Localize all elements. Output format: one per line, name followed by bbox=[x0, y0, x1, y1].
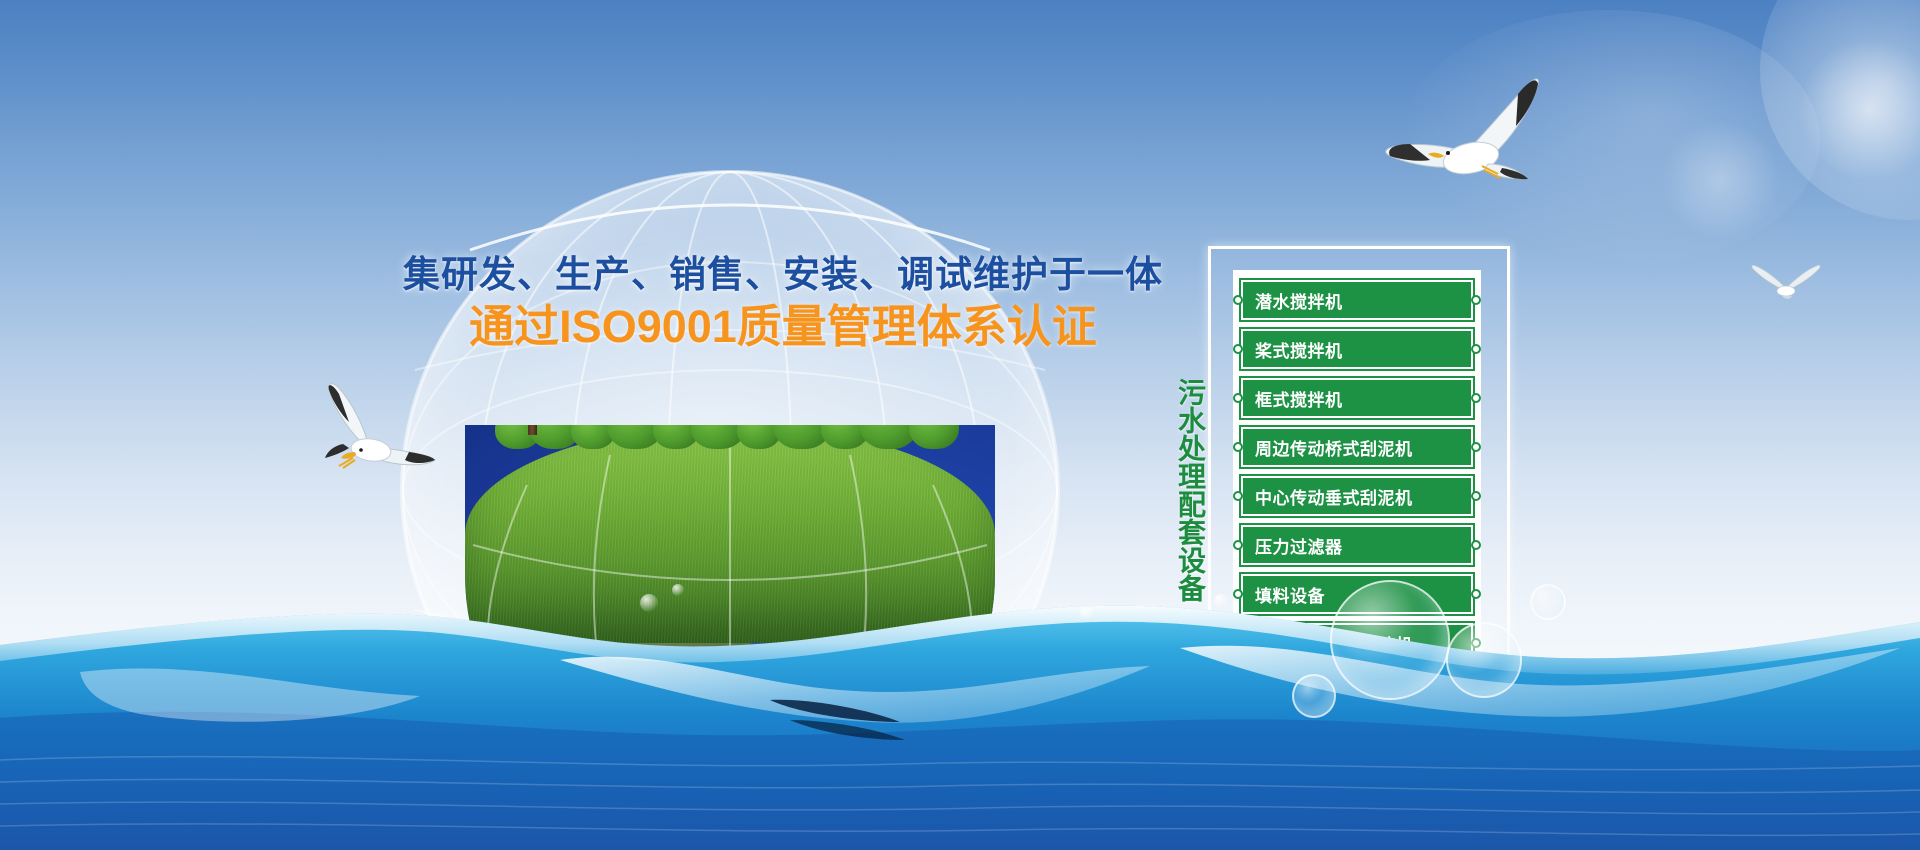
eyelet-left-icon bbox=[1233, 344, 1243, 354]
eyelet-right-icon bbox=[1471, 491, 1481, 501]
large-tree-trunk bbox=[528, 425, 537, 435]
water-bubble-small bbox=[1530, 584, 1566, 620]
product-item-label: 桨式搅拌机 bbox=[1241, 337, 1343, 362]
eyelet-right-icon bbox=[1471, 393, 1481, 403]
eyelet-left-icon bbox=[1233, 442, 1243, 452]
eyelet-left-icon bbox=[1233, 295, 1243, 305]
tree bbox=[909, 425, 959, 449]
product-item-1[interactable]: 潜水搅拌机 bbox=[1239, 278, 1475, 322]
seagull-left-icon bbox=[305, 372, 437, 474]
eyelet-right-icon bbox=[1471, 344, 1481, 354]
water-wave-graphic bbox=[0, 550, 1920, 850]
product-item-5[interactable]: 中心传动垂式刮泥机 bbox=[1239, 474, 1475, 518]
product-item-label: 框式搅拌机 bbox=[1241, 386, 1343, 411]
water-bubble-small bbox=[1292, 674, 1336, 718]
water-bubble-tiny bbox=[672, 584, 684, 596]
floating-bubble bbox=[1214, 594, 1228, 608]
water-bubble-tiny bbox=[640, 594, 658, 612]
water-bubble-tiny bbox=[1080, 606, 1094, 620]
sky-glow-small bbox=[1660, 120, 1780, 240]
eyelet-left-icon bbox=[1233, 393, 1243, 403]
seagull-top-right-icon bbox=[1378, 60, 1548, 220]
product-item-4[interactable]: 周边传动桥式刮泥机 bbox=[1239, 425, 1475, 469]
seagull-far-right-icon bbox=[1750, 262, 1822, 306]
hero-banner: 集研发、生产、销售、安装、调试维护于一体 通过ISO9001质量管理体系认证 污… bbox=[0, 0, 1920, 850]
sky-glow-lens-flare bbox=[1800, 40, 1920, 180]
eyelet-right-icon bbox=[1471, 540, 1481, 550]
product-item-2[interactable]: 桨式搅拌机 bbox=[1239, 327, 1475, 371]
headline-primary: 集研发、生产、销售、安装、调试维护于一体 bbox=[388, 252, 1178, 298]
eyelet-right-icon bbox=[1471, 442, 1481, 452]
headline-block: 集研发、生产、销售、安装、调试维护于一体 通过ISO9001质量管理体系认证 bbox=[388, 252, 1178, 354]
product-item-3[interactable]: 框式搅拌机 bbox=[1239, 376, 1475, 420]
eyelet-right-icon bbox=[1471, 295, 1481, 305]
water-bubble-large bbox=[1330, 580, 1450, 700]
water-bubble-medium bbox=[1446, 622, 1522, 698]
eyelet-left-icon bbox=[1233, 491, 1243, 501]
water-wave-svg bbox=[0, 550, 1920, 850]
product-item-label: 周边传动桥式刮泥机 bbox=[1241, 435, 1413, 460]
sky-glow-large bbox=[1760, 0, 1920, 220]
tree-row bbox=[495, 425, 965, 449]
eyelet-left-icon bbox=[1233, 540, 1243, 550]
headline-secondary: 通过ISO9001质量管理体系认证 bbox=[388, 300, 1178, 354]
product-item-label: 潜水搅拌机 bbox=[1241, 288, 1343, 313]
product-item-label: 中心传动垂式刮泥机 bbox=[1241, 484, 1413, 509]
